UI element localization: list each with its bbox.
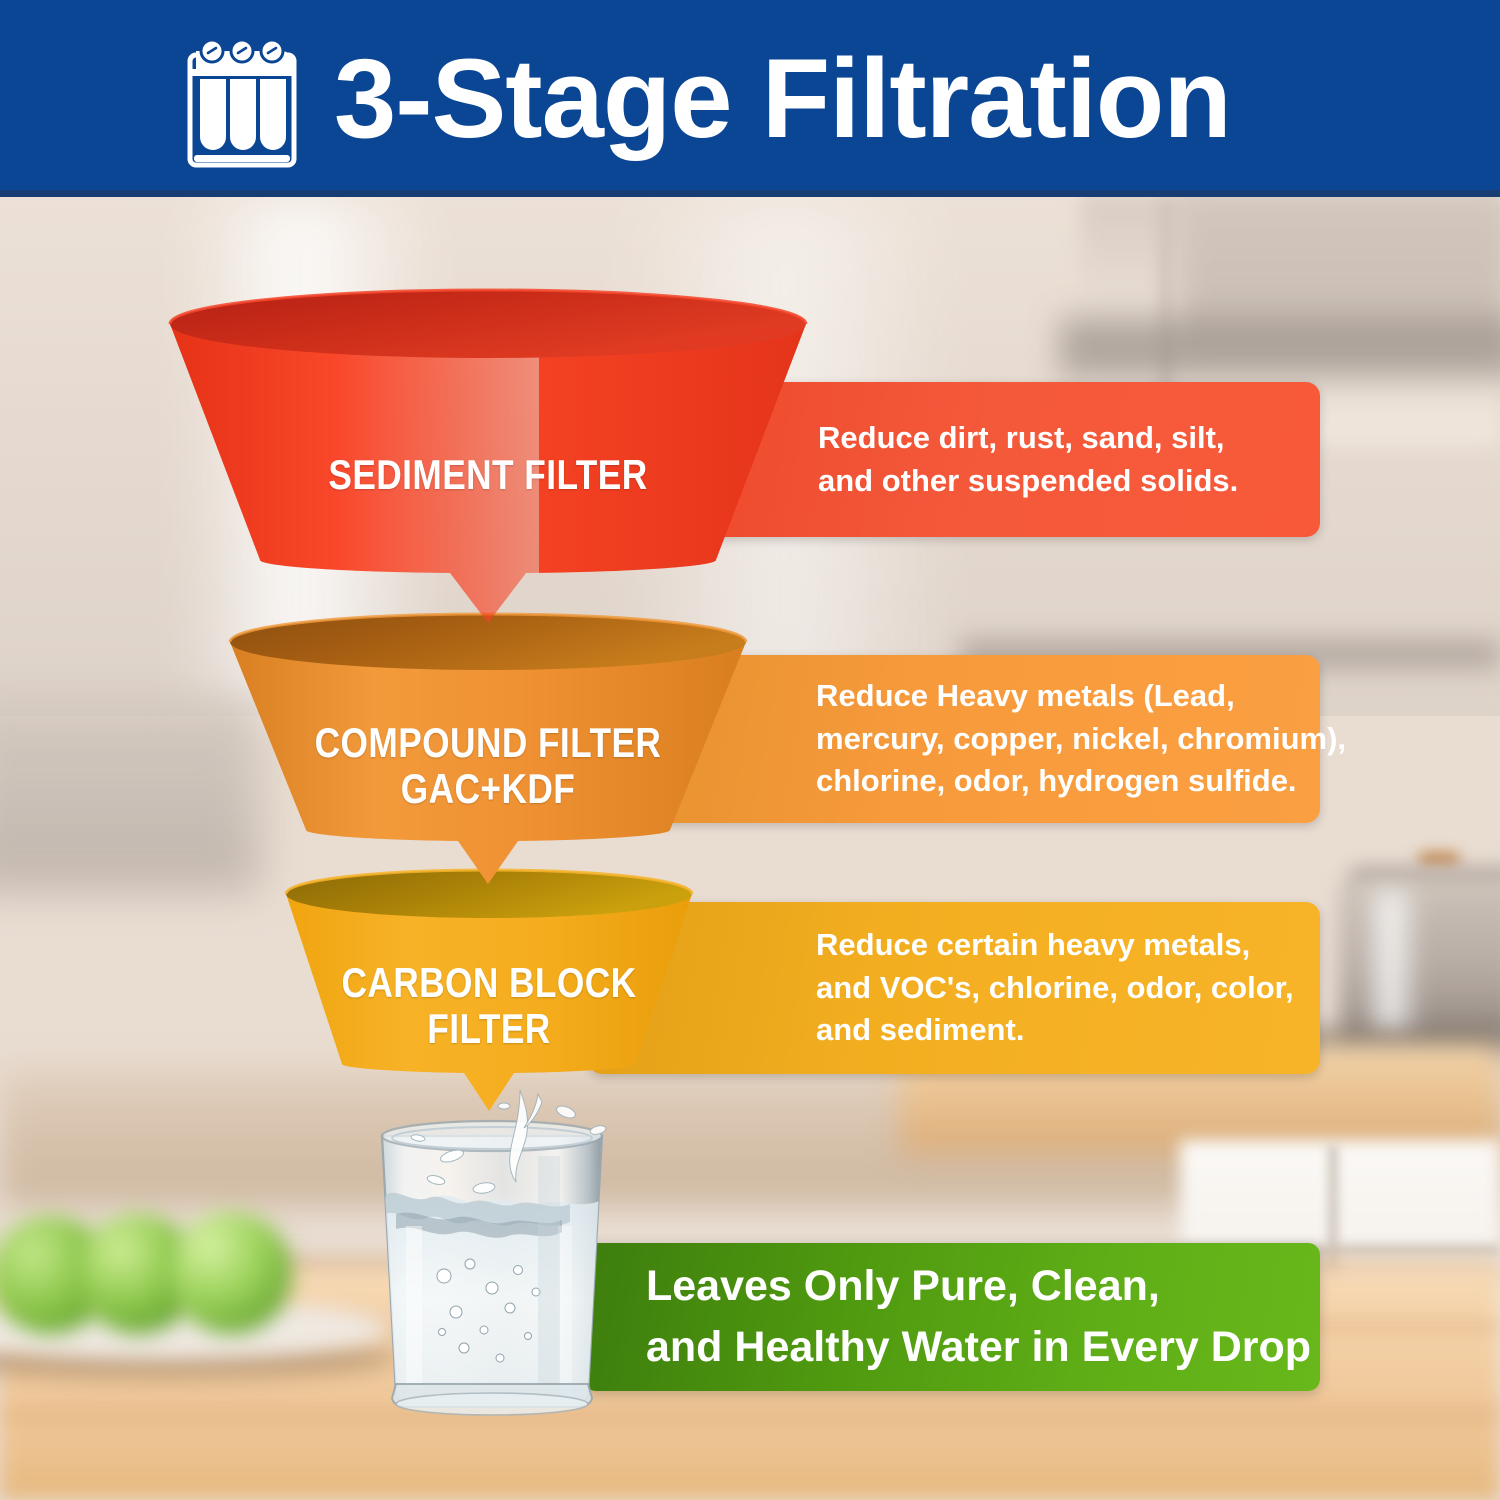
funnel-stage-3: CARBON BLOCK FILTER <box>284 868 694 1118</box>
water-filter-housing-icon <box>186 29 298 169</box>
funnel-stage-1: SEDIMENT FILTER <box>168 288 808 628</box>
green-apple <box>170 1212 292 1334</box>
water-glass-image <box>352 1096 632 1426</box>
funnel-stage-2: COMPOUND FILTER GAC+KDF <box>228 612 748 892</box>
header-banner: 3-Stage Filtration <box>0 0 1500 196</box>
header-divider <box>0 190 1500 197</box>
callout-stage-2-text: Reduce Heavy metals (Lead, mercury, copp… <box>816 675 1346 803</box>
callout-stage-3: Reduce certain heavy metals, and VOC's, … <box>588 902 1320 1074</box>
funnel-stage-3-label: CARBON BLOCK FILTER <box>317 960 661 1052</box>
callout-stage-2: Reduce Heavy metals (Lead, mercury, copp… <box>648 655 1320 823</box>
result-banner: Leaves Only Pure, Clean, and Healthy Wat… <box>584 1243 1320 1391</box>
infographic-canvas: 3-Stage Filtration Reduce certain heavy … <box>0 0 1500 1500</box>
page-title: 3-Stage Filtration <box>334 34 1231 163</box>
callout-stage-1-text: Reduce dirt, rust, sand, silt, and other… <box>818 417 1238 503</box>
callout-stage-3-text: Reduce certain heavy metals, and VOC's, … <box>816 924 1294 1052</box>
funnel-stage-1-label: SEDIMENT FILTER <box>219 452 757 498</box>
result-banner-text: Leaves Only Pure, Clean, and Healthy Wat… <box>646 1256 1311 1378</box>
funnel-stage-2-label: COMPOUND FILTER GAC+KDF <box>270 720 707 812</box>
